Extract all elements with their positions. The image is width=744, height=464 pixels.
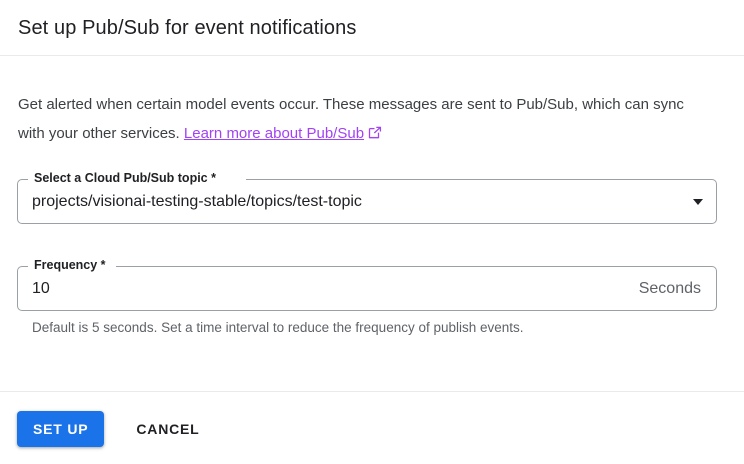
- frequency-value[interactable]: 10: [32, 279, 50, 299]
- frequency-hint-text: Default is 5 seconds. Set a time interva…: [32, 319, 524, 337]
- dialog-body: Get alerted when certain model events oc…: [0, 56, 744, 392]
- topic-select-field[interactable]: Select a Cloud Pub/Sub topic * projects/…: [17, 179, 717, 224]
- description-text: Get alerted when certain model events oc…: [18, 90, 708, 150]
- learn-more-label: Learn more about Pub/Sub: [184, 125, 364, 142]
- field-outline: [17, 266, 717, 311]
- external-link-icon: [368, 121, 382, 150]
- chevron-down-icon[interactable]: [693, 199, 703, 205]
- set-up-button[interactable]: SET UP: [17, 411, 104, 447]
- topic-select-value: projects/visionai-testing-stable/topics/…: [32, 192, 362, 212]
- frequency-label: Frequency *: [31, 257, 109, 273]
- dialog-footer: SET UP CANCEL: [0, 393, 744, 464]
- frequency-input-field[interactable]: Frequency * 10 Seconds: [17, 266, 717, 311]
- dialog-header: Set up Pub/Sub for event notifications: [0, 0, 744, 56]
- frequency-unit-suffix: Seconds: [639, 279, 701, 299]
- topic-select-label: Select a Cloud Pub/Sub topic *: [31, 170, 219, 186]
- learn-more-link[interactable]: Learn more about Pub/Sub: [184, 125, 382, 142]
- page-title: Set up Pub/Sub for event notifications: [0, 16, 356, 40]
- cancel-button[interactable]: CANCEL: [128, 411, 207, 447]
